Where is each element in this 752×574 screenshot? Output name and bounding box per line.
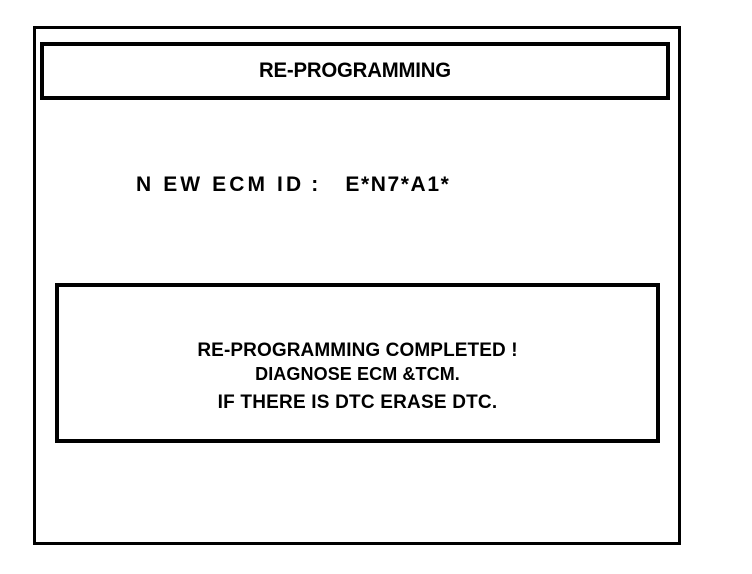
status-message-line-2: DIAGNOSE ECM &TCM.	[59, 365, 656, 383]
status-message-box: RE-PROGRAMMING COMPLETED ! DIAGNOSE ECM …	[55, 283, 660, 443]
status-message-lines: RE-PROGRAMMING COMPLETED ! DIAGNOSE ECM …	[59, 341, 656, 412]
new-ecm-id-separator: :	[304, 173, 321, 197]
outer-device-frame: RE-PROGRAMMING N EW ECM ID : E*N7*A1* RE…	[33, 26, 681, 545]
page-title: RE-PROGRAMMING	[259, 59, 451, 83]
new-ecm-id-value: E*N7*A1*	[321, 173, 450, 197]
new-ecm-id-label: N EW ECM ID	[136, 173, 304, 197]
title-box: RE-PROGRAMMING	[40, 42, 670, 100]
new-ecm-id-row: N EW ECM ID : E*N7*A1*	[136, 168, 636, 202]
status-message-line-1: RE-PROGRAMMING COMPLETED !	[59, 341, 656, 360]
status-message-line-3: IF THERE IS DTC ERASE DTC.	[59, 393, 656, 412]
scan-tool-screen: RE-PROGRAMMING N EW ECM ID : E*N7*A1* RE…	[0, 0, 752, 574]
